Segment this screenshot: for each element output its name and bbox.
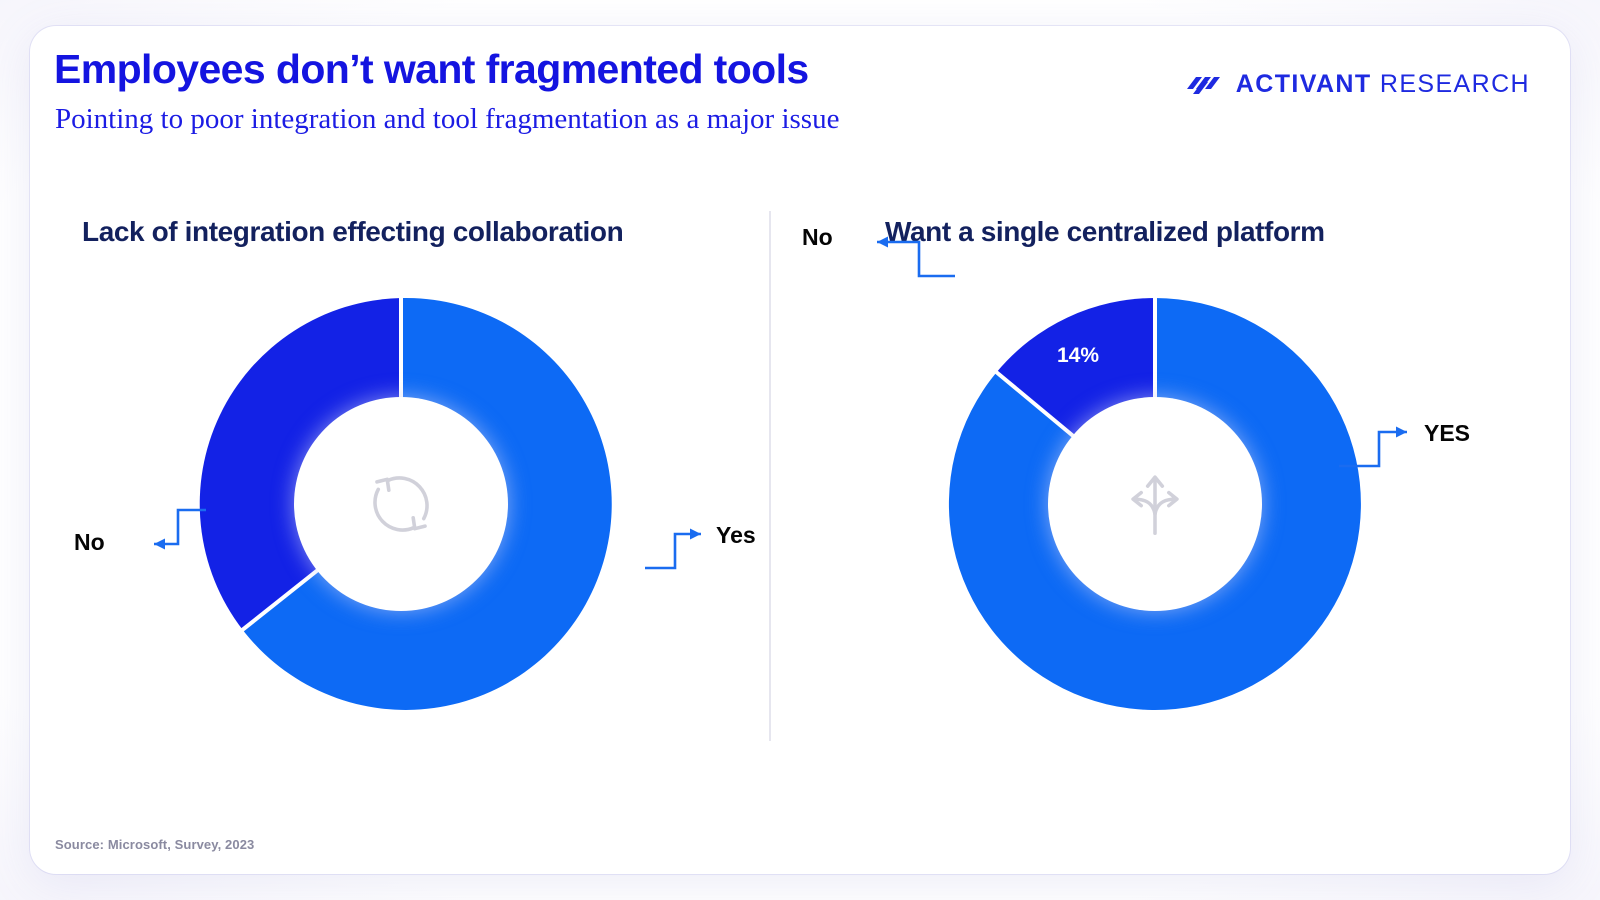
callout-label-no-right: No	[802, 224, 833, 251]
charts-region: Lack of integration effecting collaborat…	[30, 186, 1570, 806]
arrowhead-icon	[1396, 427, 1407, 438]
callout-label-yes-right: YES	[1424, 420, 1470, 447]
callout-no-right-connector	[861, 232, 957, 288]
logo-suffix: RESEARCH	[1372, 70, 1530, 98]
callout-no-left-connector	[138, 504, 208, 560]
activant-research-logo: ACTIVANT RESEARCH	[1187, 70, 1530, 99]
activant-stripes-icon	[1187, 71, 1225, 99]
callout-yes-left-connector	[643, 518, 715, 574]
slice-value-no: 36%	[260, 302, 302, 326]
slide-card: Employees don’t want fragmented tools Po…	[30, 26, 1570, 874]
donut-chart-left: 64% 36%	[181, 284, 621, 724]
arrowhead-icon	[690, 529, 701, 540]
slice-value-yes: 86%	[1110, 573, 1152, 597]
logo-brand: ACTIVANT	[1236, 70, 1372, 98]
callout-label-yes-left: Yes	[716, 522, 756, 549]
source-note: Source: Microsoft, Survey, 2023	[55, 837, 254, 852]
chart-title-left: Lack of integration effecting collaborat…	[82, 216, 623, 248]
donut-center-right	[1057, 406, 1253, 602]
page-title: Employees don’t want fragmented tools	[54, 46, 809, 93]
callout-label-no-left: No	[74, 529, 105, 556]
chart-panel-left: Lack of integration effecting collaborat…	[30, 186, 769, 806]
donut-center-left	[303, 406, 499, 602]
branching-arrows-icon	[1116, 465, 1194, 543]
donut-chart-right: 86% 14%	[935, 284, 1375, 724]
chart-panel-right: Want a single centralized platform	[771, 186, 1570, 806]
slice-value-yes: 64%	[417, 439, 459, 463]
logo-wordmark: ACTIVANT RESEARCH	[1236, 70, 1530, 99]
arrowhead-icon	[877, 237, 888, 248]
refresh-sync-icon	[362, 465, 440, 543]
slice-value-no: 14%	[1057, 344, 1099, 368]
slide-header: Employees don’t want fragmented tools Po…	[30, 26, 1570, 176]
arrowhead-icon	[154, 539, 165, 550]
page-subtitle: Pointing to poor integration and tool fr…	[55, 103, 839, 136]
callout-yes-right-connector	[1337, 416, 1423, 472]
